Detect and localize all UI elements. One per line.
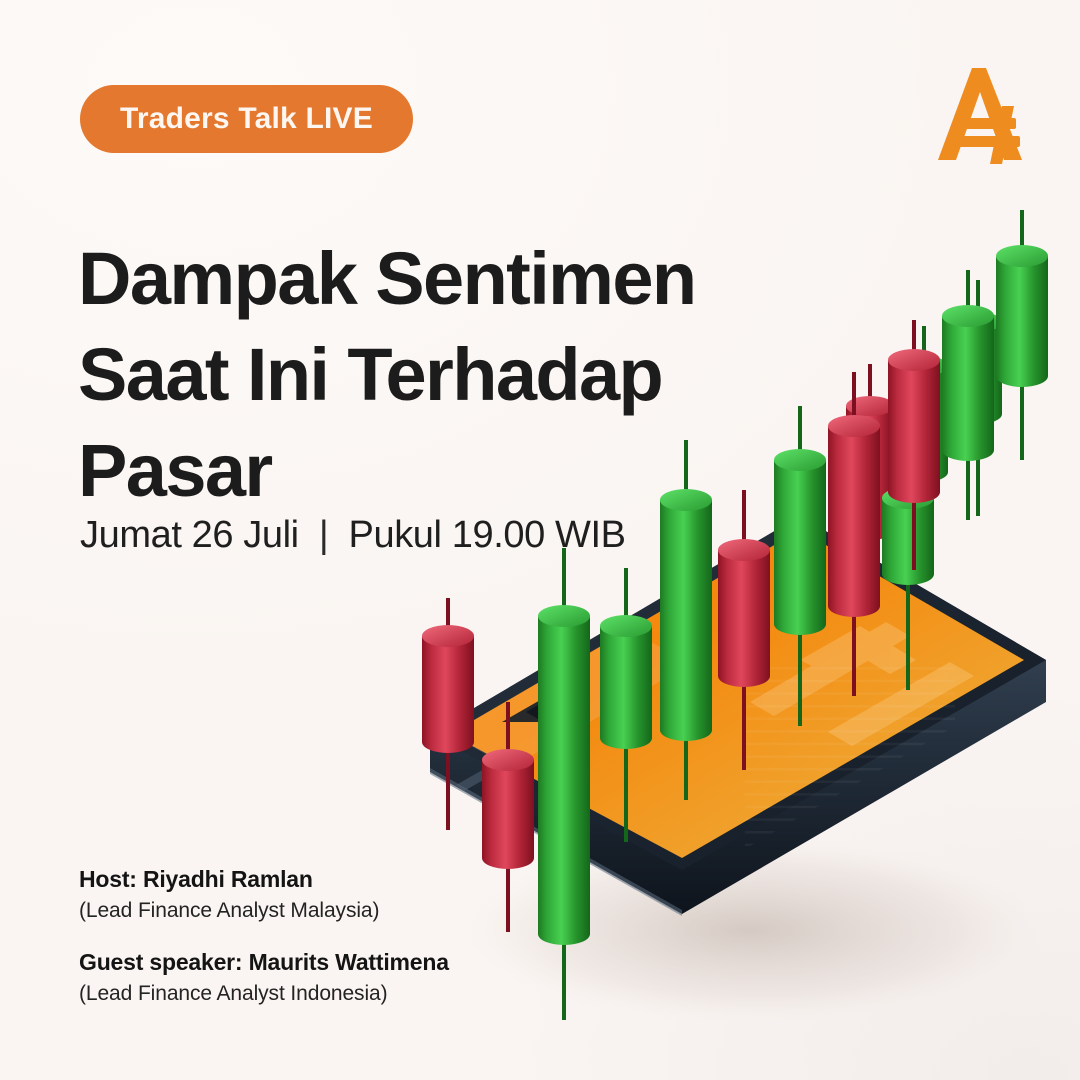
candle-11-bullish <box>942 270 994 520</box>
credit-host: Host: Riyadhi Ramlan (Lead Finance Analy… <box>79 866 599 923</box>
credit-guest-name: Guest speaker: Maurits Wattimena <box>79 949 599 976</box>
live-badge-label: Traders Talk LIVE <box>120 102 373 136</box>
candle-12-bullish <box>996 210 1048 460</box>
candle-1-bearish <box>422 598 474 830</box>
credit-guest-role: (Lead Finance Analyst Indonesia) <box>79 982 599 1006</box>
headline-line-1: Dampak Sentimen <box>78 242 818 316</box>
promo-poster: Traders Talk LIVE Dampak Sentimen Saat I… <box>0 0 1080 1080</box>
brand-logo <box>928 62 1036 166</box>
schedule-date: Jumat 26 Juli <box>80 514 299 556</box>
live-badge[interactable]: Traders Talk LIVE <box>80 85 413 153</box>
credit-host-name: Host: Riyadhi Ramlan <box>79 866 599 893</box>
credits-block: Host: Riyadhi Ramlan (Lead Finance Analy… <box>79 866 599 1032</box>
credit-host-role: (Lead Finance Analyst Malaysia) <box>79 899 599 923</box>
credit-guest: Guest speaker: Maurits Wattimena (Lead F… <box>79 949 599 1006</box>
